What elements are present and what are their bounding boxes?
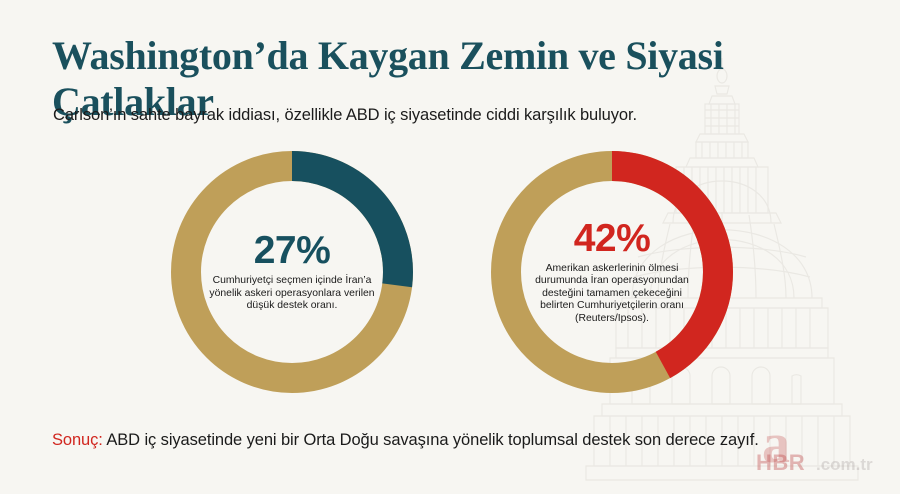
donut-chart-27: 27% Cumhuriyetçi seçmen içinde İran’a yö… [168, 148, 416, 396]
infographic-canvas: Washington’da Kaygan Zemin ve Siyasi Çat… [0, 0, 900, 494]
conclusion-lead: Sonuç: [52, 431, 103, 449]
page-subtitle: Carlson’ın sahte bayrak iddiası, özellik… [53, 105, 813, 125]
donut-caption-42: Amerikan askerlerinin ölmesi durumunda İ… [522, 263, 702, 326]
donut-charts-group: 27% Cumhuriyetçi seçmen içinde İran’a yö… [0, 148, 900, 398]
donut-center-27: 27% Cumhuriyetçi seçmen içinde İran’a yö… [202, 182, 382, 362]
donut-value-label-27: 27% [254, 231, 331, 271]
watermark-brand: HBR [756, 450, 805, 476]
donut-caption-27: Cumhuriyetçi seçmen içinde İran’a yöneli… [202, 275, 382, 313]
channel-watermark: a HBR .com.tr [724, 416, 884, 488]
conclusion-text: ABD iç siyasetinde yeni bir Orta Doğu sa… [103, 431, 759, 449]
watermark-domain: .com.tr [816, 455, 873, 475]
donut-center-42: 42% Amerikan askerlerinin ölmesi durumun… [522, 182, 702, 362]
conclusion-line: Sonuç: ABD iç siyasetinde yeni bir Orta … [52, 430, 872, 450]
donut-chart-42: 42% Amerikan askerlerinin ölmesi durumun… [488, 148, 736, 396]
donut-value-label-42: 42% [574, 219, 651, 259]
